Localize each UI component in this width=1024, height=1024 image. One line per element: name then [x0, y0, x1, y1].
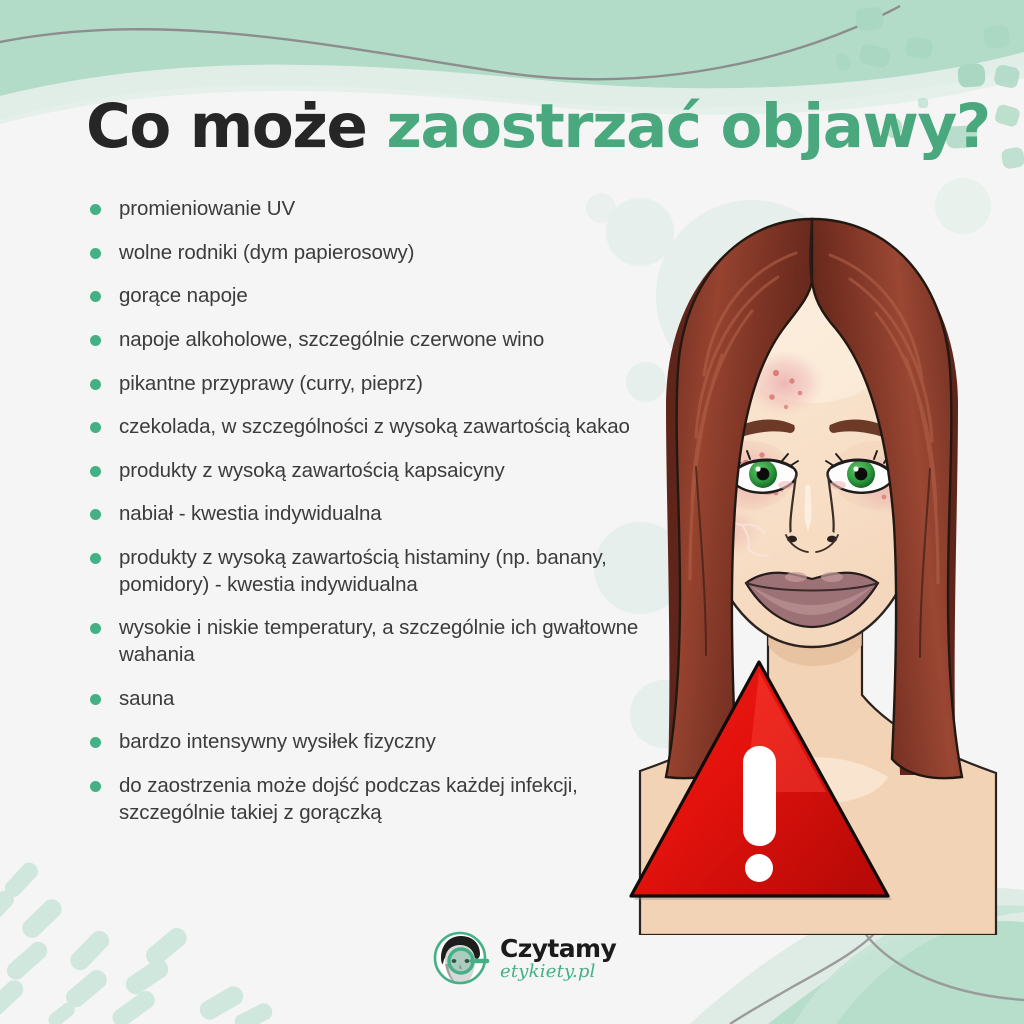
logo-name-top: Czytamy: [500, 936, 616, 961]
trigger-list: promieniowanie UV wolne rodniki (dym pap…: [78, 196, 653, 843]
bullet-dot-icon: [90, 291, 101, 302]
list-item-label: pikantne przyprawy (curry, pieprz): [119, 371, 653, 398]
bullet-dot-icon: [90, 379, 101, 390]
list-item: pikantne przyprawy (curry, pieprz): [78, 371, 653, 398]
bullet-dot-icon: [90, 737, 101, 748]
bullet-dot-icon: [90, 781, 101, 792]
bullet-dot-icon: [90, 248, 101, 259]
list-item: do zaostrzenia może dojść podczas każdej…: [78, 773, 653, 826]
bullet-dot-icon: [90, 335, 101, 346]
brand-logo[interactable]: Czytamy etykiety.pl: [431, 926, 616, 990]
list-item: promieniowanie UV: [78, 196, 653, 223]
bullet-dot-icon: [90, 204, 101, 215]
logo-wordmark: Czytamy etykiety.pl: [500, 936, 616, 981]
list-item: bardzo intensywny wysiłek fizyczny: [78, 729, 653, 756]
list-item-label: promieniowanie UV: [119, 196, 653, 223]
list-item: produkty z wysoką zawartością kapsaicyny: [78, 458, 653, 485]
list-item-label: produkty z wysoką zawartością histaminy …: [119, 545, 653, 598]
list-item: sauna: [78, 686, 653, 713]
top-curve-line: [0, 6, 900, 79]
bullet-dot-icon: [90, 422, 101, 433]
bullet-dot-icon: [90, 623, 101, 634]
exclamation-bar: [743, 746, 776, 846]
list-item-label: gorące napoje: [119, 283, 653, 310]
list-item-label: produkty z wysoką zawartością kapsaicyny: [119, 458, 653, 485]
warning-triangle-icon: [626, 650, 894, 912]
logo-name-bottom: etykiety.pl: [500, 963, 616, 981]
list-item-label: sauna: [119, 686, 653, 713]
list-item: czekolada, w szczególności z wysoką zawa…: [78, 414, 653, 441]
infographic-canvas: Co może zaostrzać objawy? promieniowanie…: [0, 0, 1024, 1024]
page-title: Co może zaostrzać objawy?: [86, 96, 966, 157]
title-part-green: zaostrzać objawy?: [386, 91, 990, 162]
bottom-wave-mint: [768, 921, 1024, 1024]
top-wave-mint: [0, 0, 1024, 96]
list-item-label: czekolada, w szczególności z wysoką zawa…: [119, 414, 653, 441]
list-item-label: nabiał - kwestia indywidualna: [119, 501, 653, 528]
list-item-label: napoje alkoholowe, szczególnie czerwone …: [119, 327, 653, 354]
exclamation-dot: [745, 854, 773, 882]
list-item: wolne rodniki (dym papierosowy): [78, 240, 653, 267]
list-item: nabiał - kwestia indywidualna: [78, 501, 653, 528]
list-item-label: wysokie i niskie temperatury, a szczegól…: [119, 615, 653, 668]
bullet-dot-icon: [90, 509, 101, 520]
list-item: napoje alkoholowe, szczególnie czerwone …: [78, 327, 653, 354]
title-part-dark: Co może: [86, 91, 366, 162]
magnifier-lens: [449, 949, 473, 973]
list-item: gorące napoje: [78, 283, 653, 310]
magnifier-face-icon: [431, 928, 491, 988]
leaf-dash-group: [0, 860, 274, 1024]
list-item-label: bardzo intensywny wysiłek fizyczny: [119, 729, 653, 756]
list-item-label: wolne rodniki (dym papierosowy): [119, 240, 653, 267]
list-item: wysokie i niskie temperatury, a szczegól…: [78, 615, 653, 668]
list-item-label: do zaostrzenia może dojść podczas każdej…: [119, 773, 653, 826]
bullet-dot-icon: [90, 694, 101, 705]
bullet-dot-icon: [90, 553, 101, 564]
list-item: produkty z wysoką zawartością histaminy …: [78, 545, 653, 598]
bullet-dot-icon: [90, 466, 101, 477]
